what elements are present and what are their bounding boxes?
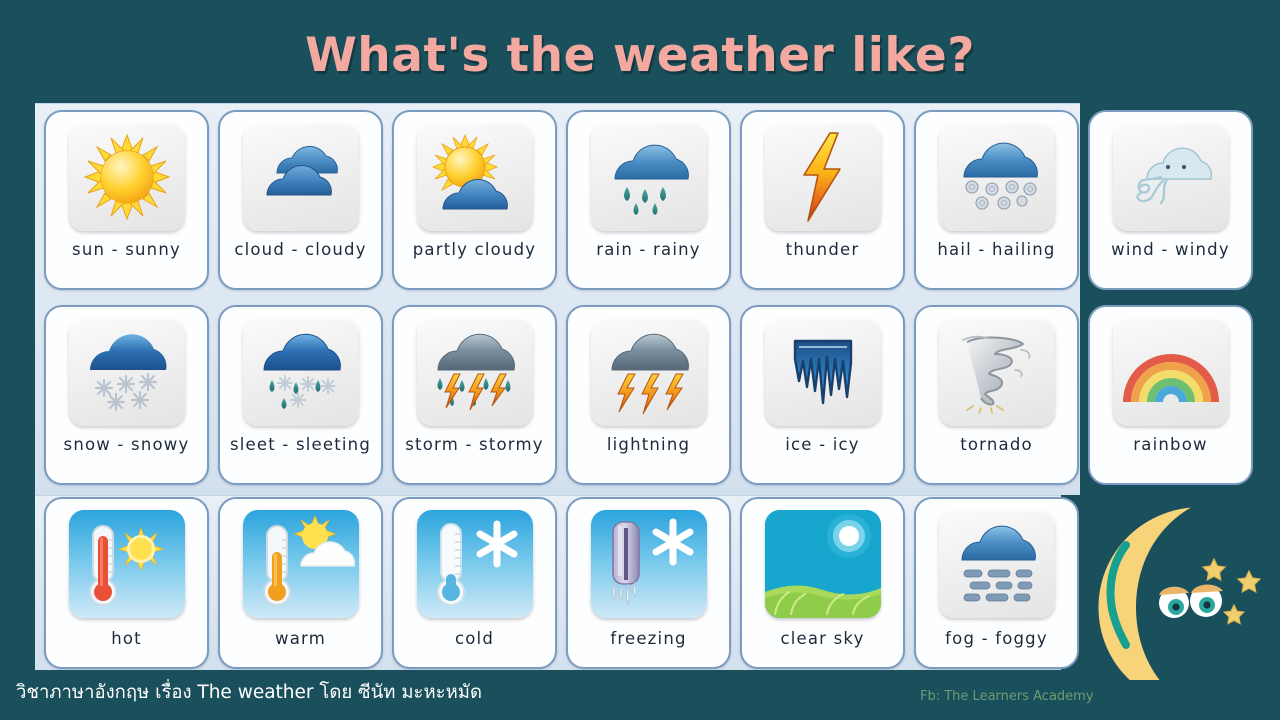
sleepy-moon-mascot	[1086, 505, 1276, 680]
card-label: freezing	[610, 629, 686, 648]
weather-card-cloud[interactable]: cloud - cloudy	[218, 110, 383, 290]
weather-card-warm[interactable]: warm	[218, 497, 383, 669]
rainbow-icon	[1113, 318, 1229, 426]
icicles-icon	[765, 318, 881, 426]
card-label: fog - foggy	[945, 629, 1048, 648]
tornado-icon	[939, 318, 1055, 426]
thermometer-cold-icon	[417, 510, 533, 618]
clear-sky-icon	[765, 510, 881, 618]
card-label: hot	[111, 629, 142, 648]
card-label: sleet - sleeting	[230, 435, 371, 454]
lightning-cloud-icon	[591, 318, 707, 426]
card-label: ice - icy	[785, 435, 859, 454]
sun-behind-cloud-icon	[417, 123, 533, 231]
weather-card-row-2: snow - snowy	[44, 305, 1262, 485]
storm-cloud-icon	[417, 318, 533, 426]
weather-card-sun[interactable]: sun - sunny	[44, 110, 209, 290]
card-label: storm - stormy	[405, 435, 543, 454]
weather-card-snow[interactable]: snow - snowy	[44, 305, 209, 485]
card-label: sun - sunny	[72, 240, 181, 259]
weather-card-partly-cloudy[interactable]: partly cloudy	[392, 110, 557, 290]
hail-cloud-icon	[939, 123, 1055, 231]
card-label: cloud - cloudy	[234, 240, 366, 259]
card-label: partly cloudy	[413, 240, 536, 259]
card-label: clear sky	[780, 629, 864, 648]
weather-card-storm[interactable]: storm - stormy	[392, 305, 557, 485]
card-label: cold	[455, 629, 494, 648]
card-label: rain - rainy	[596, 240, 700, 259]
page-title: What's the weather like?	[0, 28, 1280, 83]
weather-card-cold[interactable]: cold	[392, 497, 557, 669]
card-label: rainbow	[1133, 435, 1207, 454]
weather-card-fog[interactable]: fog - foggy	[914, 497, 1079, 669]
thermometer-hot-icon	[69, 510, 185, 618]
weather-card-rainbow[interactable]: rainbow	[1088, 305, 1253, 485]
weather-card-hot[interactable]: hot	[44, 497, 209, 669]
sleet-cloud-icon	[243, 318, 359, 426]
sun-icon	[69, 123, 185, 231]
card-label: hail - hailing	[937, 240, 1055, 259]
weather-card-tornado[interactable]: tornado	[914, 305, 1079, 485]
weather-card-thunder[interactable]: thunder	[740, 110, 905, 290]
rain-cloud-icon	[591, 123, 707, 231]
weather-card-row-1: sun - sunny cloud - cloudy	[44, 110, 1262, 290]
card-label: snow - snowy	[64, 435, 190, 454]
weather-card-row-3: hot	[44, 497, 1088, 669]
card-label: lightning	[607, 435, 690, 454]
weather-card-freezing[interactable]: freezing	[566, 497, 731, 669]
weather-card-clear-sky[interactable]: clear sky	[740, 497, 905, 669]
weather-card-rain[interactable]: rain - rainy	[566, 110, 731, 290]
thermometer-warm-icon	[243, 510, 359, 618]
weather-card-sleet[interactable]: sleet - sleeting	[218, 305, 383, 485]
card-label: tornado	[960, 435, 1033, 454]
weather-card-hail[interactable]: hail - hailing	[914, 110, 1079, 290]
weather-card-ice[interactable]: ice - icy	[740, 305, 905, 485]
snow-cloud-icon	[69, 318, 185, 426]
lightning-bolt-icon	[765, 123, 881, 231]
footer-credit: Fb: The Learners Academy	[920, 689, 1094, 704]
weather-card-wind[interactable]: wind - windy	[1088, 110, 1253, 290]
thermometer-freezing-icon	[591, 510, 707, 618]
fog-cloud-icon	[939, 510, 1055, 618]
card-label: thunder	[786, 240, 860, 259]
card-label: warm	[275, 629, 326, 648]
weather-card-lightning[interactable]: lightning	[566, 305, 731, 485]
clouds-icon	[243, 123, 359, 231]
footer-thai-text: วิชาภาษาอังกฤษ เรื่อง The weather โดย ซี…	[16, 678, 482, 707]
wind-face-icon	[1113, 123, 1229, 231]
card-label: wind - windy	[1111, 240, 1230, 259]
